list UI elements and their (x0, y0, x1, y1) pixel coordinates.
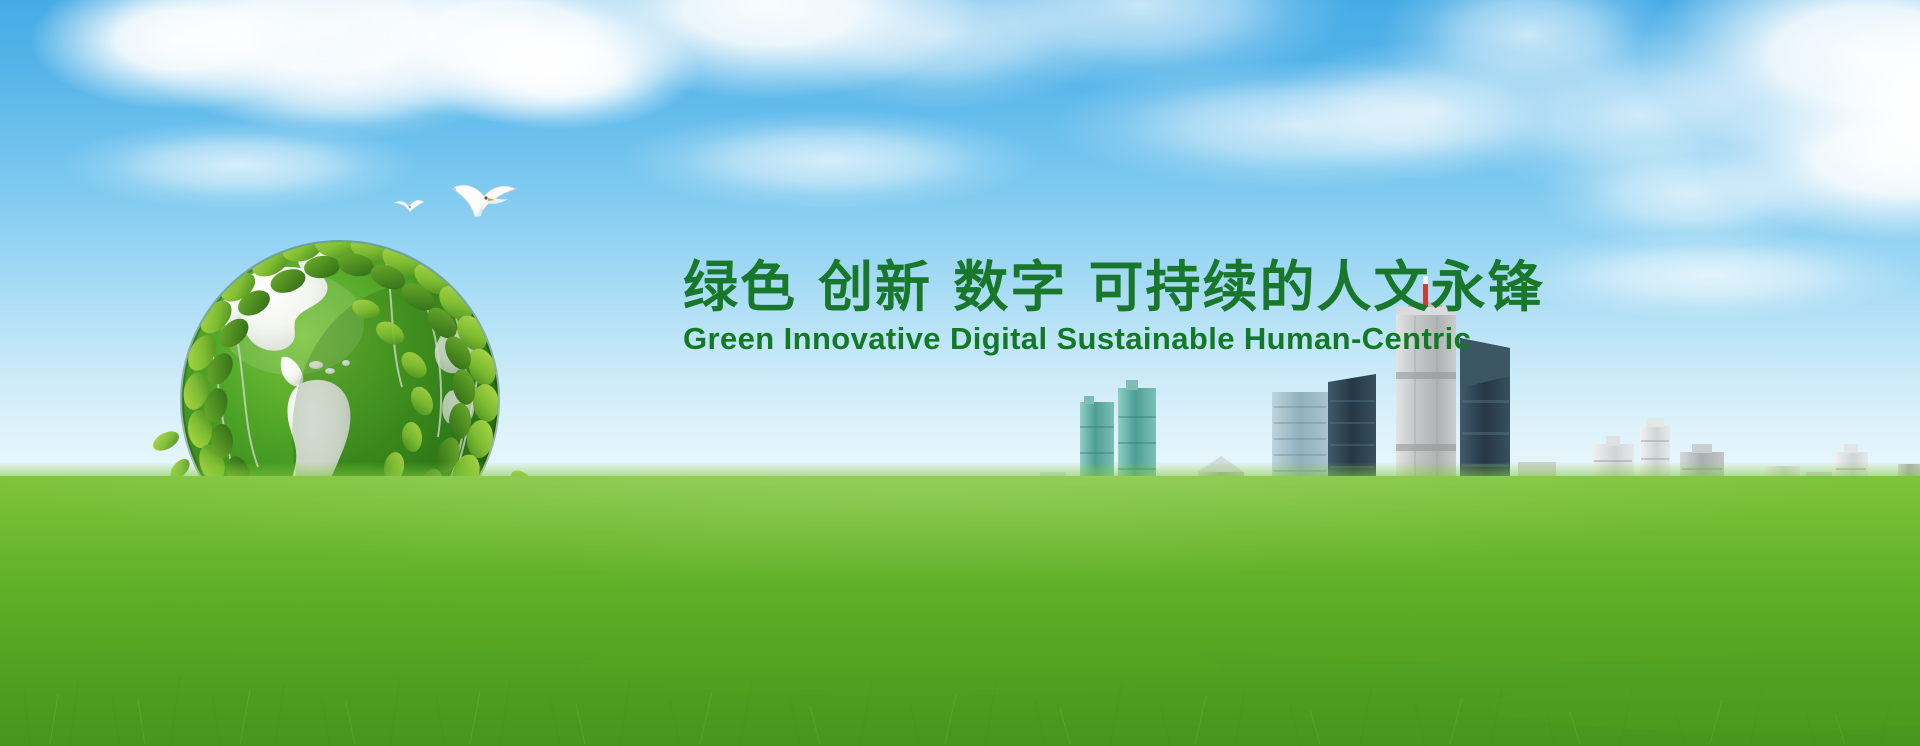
headline-block: 绿色 创新 数字 可持续的人文永锋 Green Innovative Digit… (683, 258, 1563, 356)
grass-texture (0, 476, 1920, 746)
hero-banner: 绿色 创新 数字 可持续的人文永锋 Green Innovative Digit… (0, 0, 1920, 746)
headline-english: Green Innovative Digital Sustainable Hum… (683, 322, 1563, 356)
headline-chinese: 绿色 创新 数字 可持续的人文永锋 (683, 258, 1563, 316)
